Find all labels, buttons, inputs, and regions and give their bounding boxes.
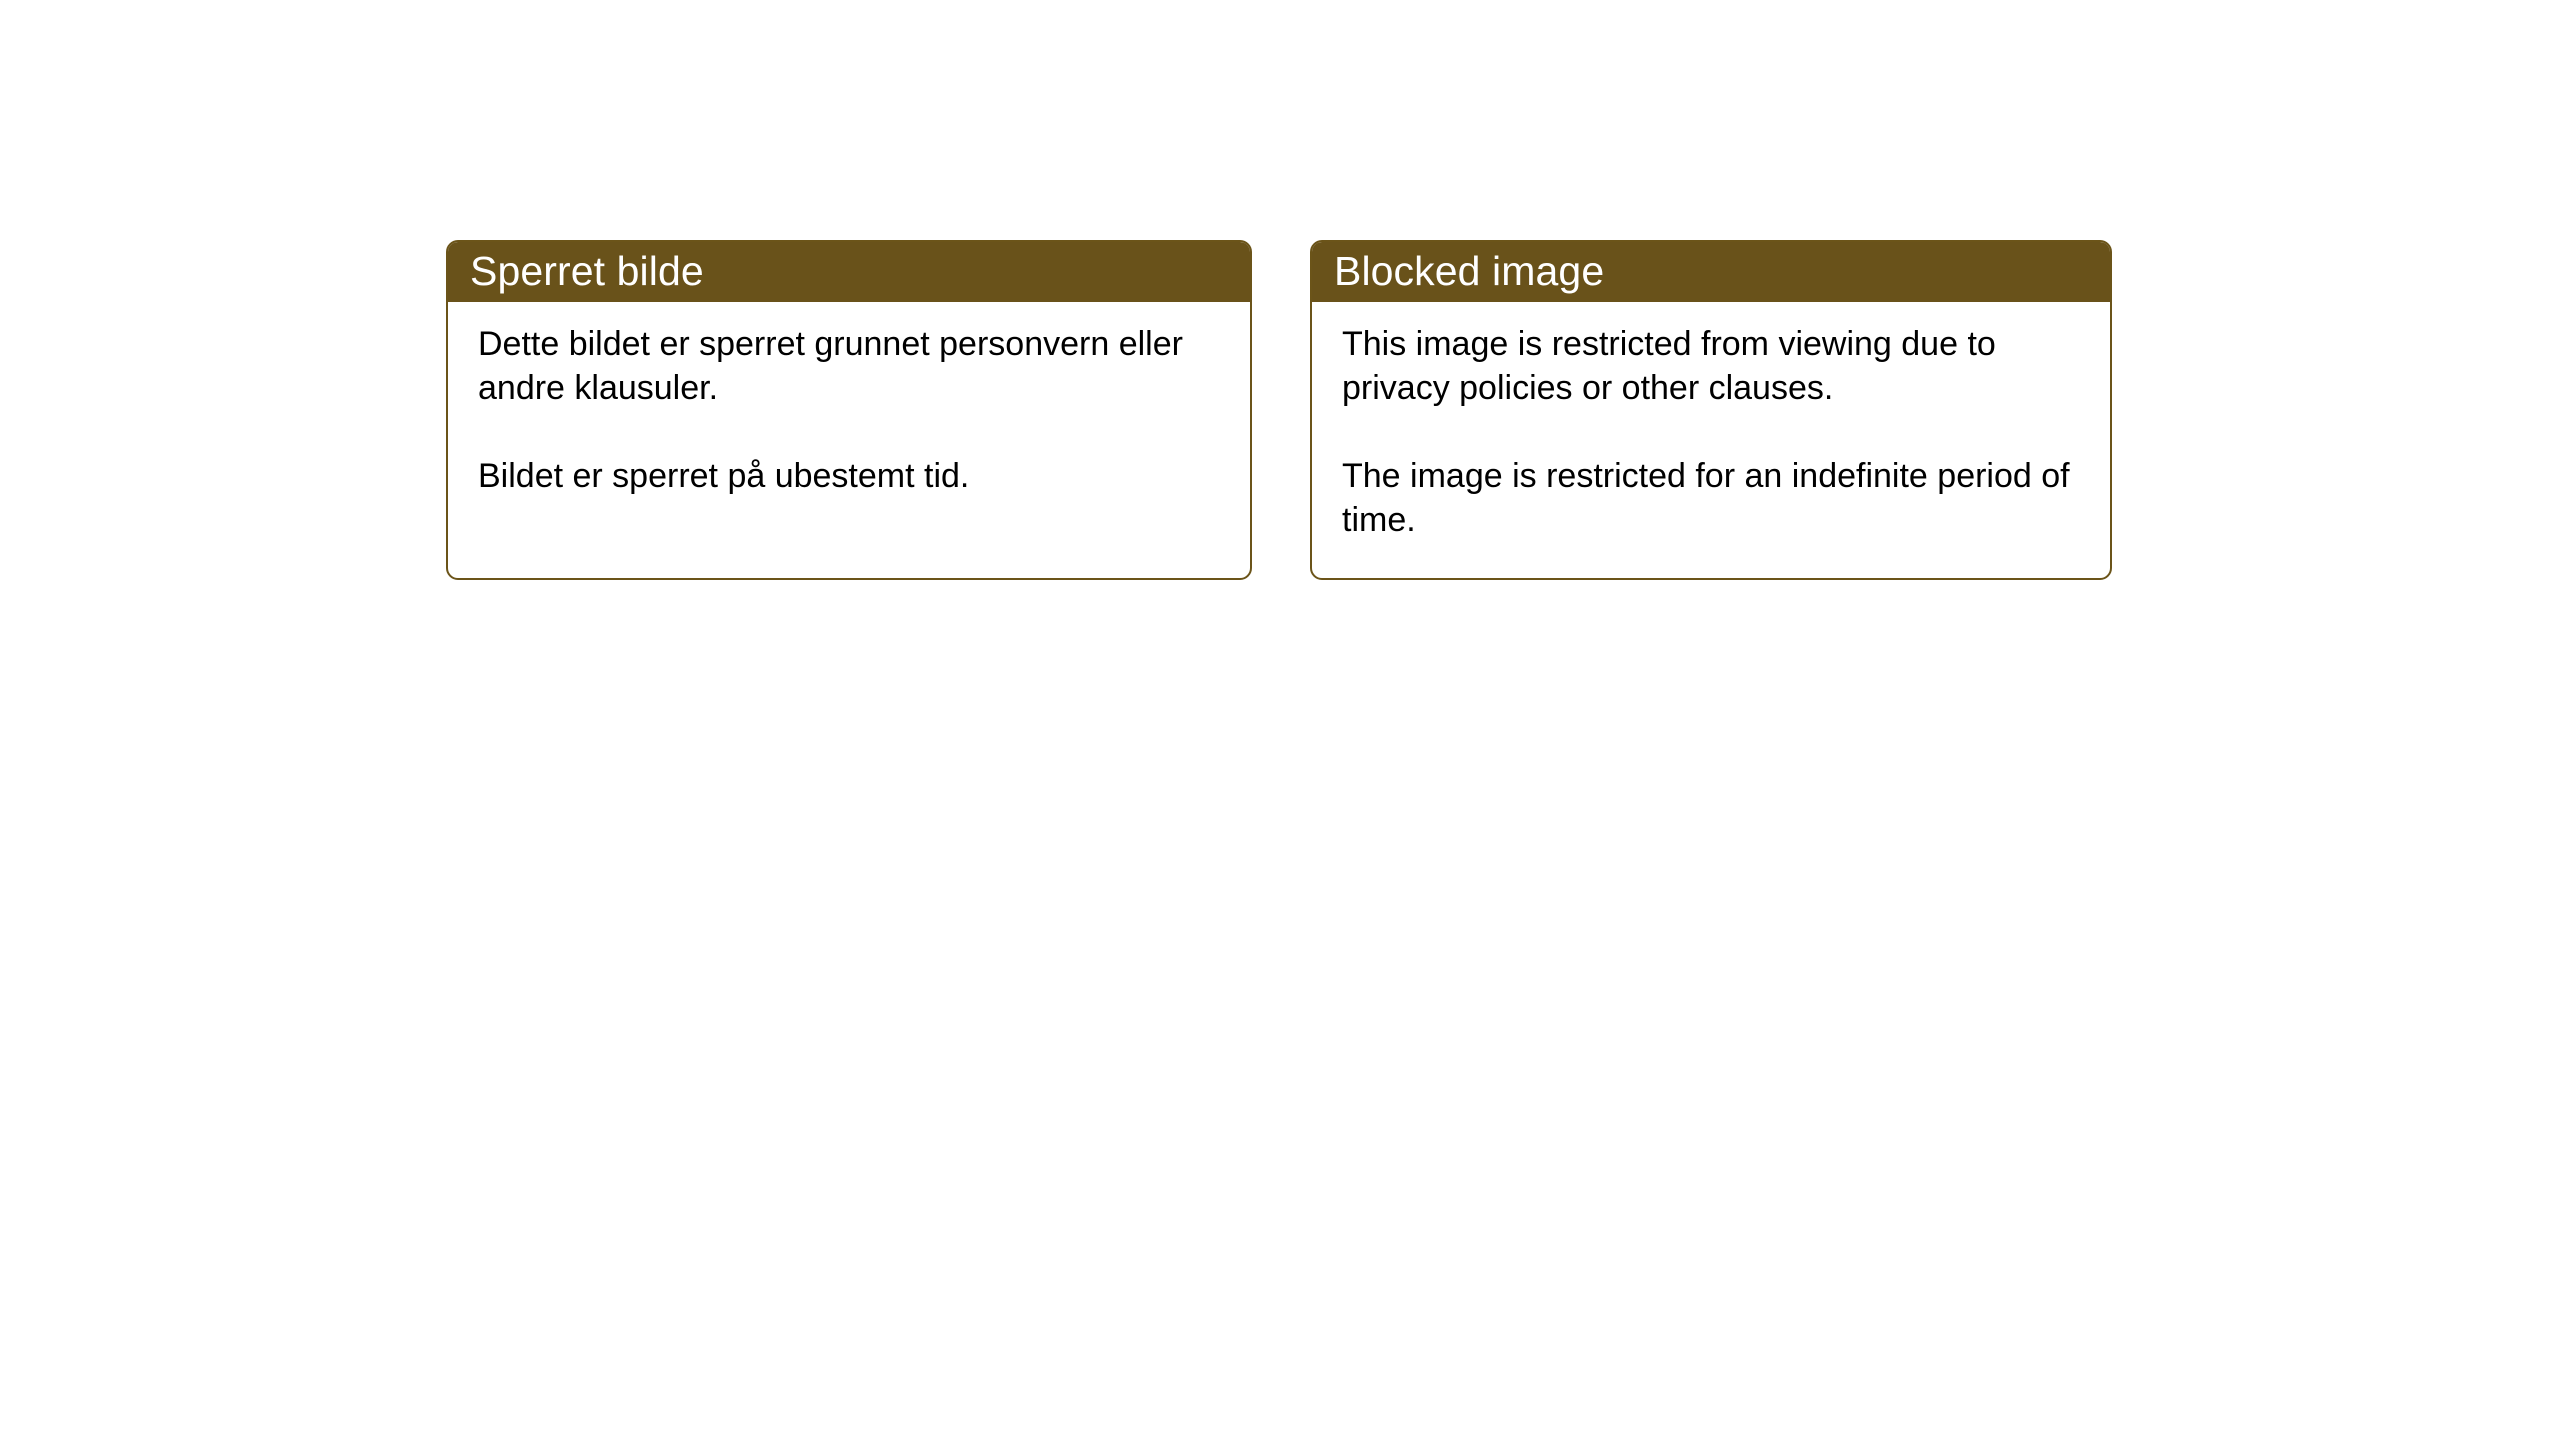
notice-title-english: Blocked image: [1334, 251, 1604, 292]
blocked-image-notice-norwegian: Sperret bilde Dette bildet er sperret gr…: [446, 240, 1252, 580]
blocked-image-notice-english: Blocked image This image is restricted f…: [1310, 240, 2112, 580]
page-root: Sperret bilde Dette bildet er sperret gr…: [0, 0, 2560, 1440]
notice-paragraph-reason-english: This image is restricted from viewing du…: [1342, 322, 2084, 410]
notice-body-english: This image is restricted from viewing du…: [1312, 302, 2110, 542]
notice-title-norwegian: Sperret bilde: [470, 251, 704, 292]
notice-paragraph-duration-english: The image is restricted for an indefinit…: [1342, 454, 2084, 542]
notice-header-english: Blocked image: [1310, 240, 2112, 302]
notice-header-norwegian: Sperret bilde: [446, 240, 1252, 302]
notice-body-norwegian: Dette bildet er sperret grunnet personve…: [448, 302, 1250, 498]
notice-paragraph-duration-norwegian: Bildet er sperret på ubestemt tid.: [478, 454, 1224, 498]
notice-paragraph-reason-norwegian: Dette bildet er sperret grunnet personve…: [478, 322, 1224, 410]
